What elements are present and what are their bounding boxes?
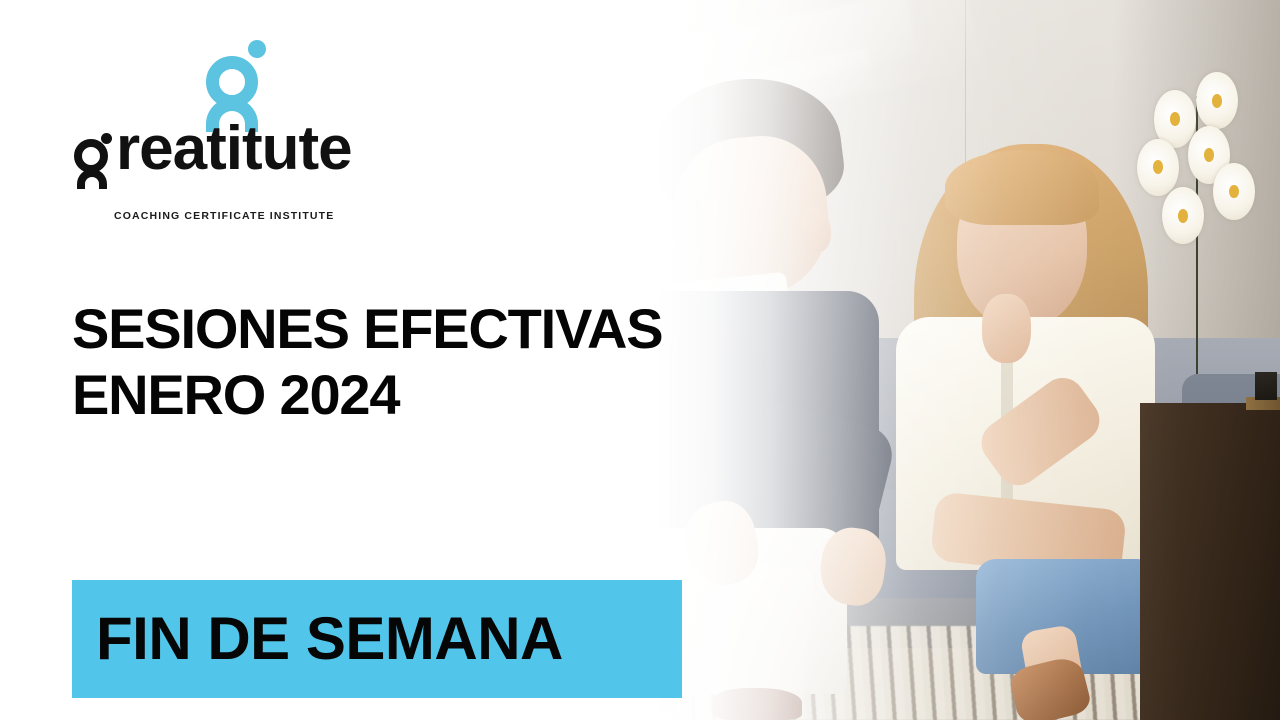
orchid-bloom [1196,72,1238,129]
man-nose [802,207,831,252]
woman-hair-fringe [945,150,1099,225]
g-ring-icon [74,139,108,173]
g-legs-icon [77,169,107,189]
promo-banner-canvas: reatitute COACHING CERTIFICATE INSTITUTE… [0,0,1280,720]
highlight-banner-label: FIN DE SEMANA [96,609,563,669]
man-brown-shoe [712,688,802,720]
woman-hand-on-chin [982,294,1031,363]
side-table-box-object [1255,372,1277,401]
page-title: SESIONES EFECTIVAS ENERO 2024 [72,296,692,428]
brand-tagline: COACHING CERTIFICATE INSTITUTE [114,210,334,222]
brand-wordmark: reatitute [74,118,352,180]
headline-line-2: ENERO 2024 [72,362,692,428]
highlight-banner: FIN DE SEMANA [72,580,682,698]
g-dot-icon [101,133,112,144]
headline-line-1: SESIONES EFECTIVAS [72,296,692,362]
brand-logo: reatitute COACHING CERTIFICATE INSTITUTE [74,40,364,190]
brand-wordmark-text: reatitute [116,114,352,183]
lowercase-g-figure-icon [74,133,114,179]
wood-side-table [1140,403,1280,720]
man-ear [679,195,705,246]
logo-dot-accent-icon [248,40,266,58]
orchid-bloom [1213,163,1255,220]
